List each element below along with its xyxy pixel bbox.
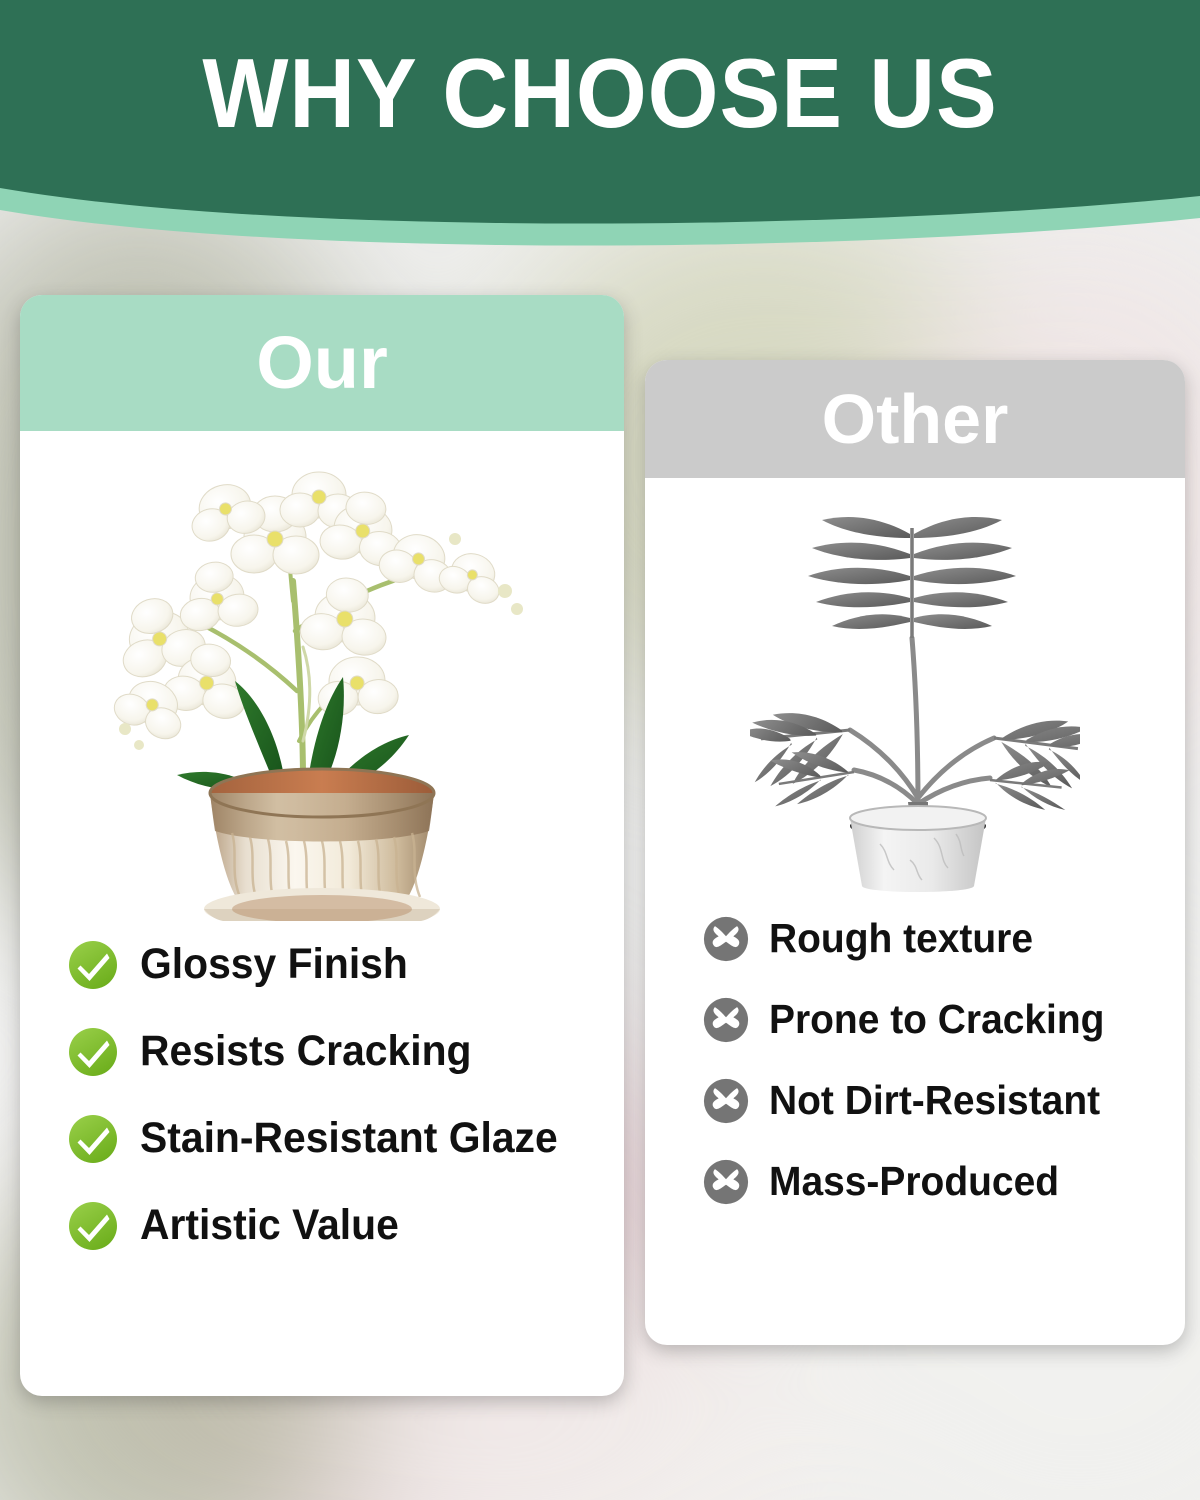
- palm-in-plain-pot-illustration: [750, 488, 1080, 898]
- feature-item: Glossy Finish: [68, 921, 624, 1008]
- feature-label: Resists Cracking: [140, 1030, 471, 1073]
- feature-list-our: Glossy Finish Resists Cracking Stain-Res…: [20, 921, 624, 1269]
- check-circle-icon: [68, 1027, 118, 1077]
- feature-list-other: Rough texture Prone to Cracking Not Dirt…: [645, 898, 1185, 1222]
- product-image-our: [20, 431, 624, 921]
- card-header-our: Our: [20, 295, 624, 431]
- feature-label: Rough texture: [769, 918, 1033, 959]
- card-header-label-other: Other: [822, 384, 1009, 454]
- check-circle-icon: [68, 1201, 118, 1251]
- check-circle-icon: [68, 1114, 118, 1164]
- x-circle-icon: [703, 916, 749, 962]
- feature-label: Prone to Cracking: [769, 999, 1104, 1040]
- comparison-card-other: Other: [645, 360, 1185, 1345]
- card-body-our: Glossy Finish Resists Cracking Stain-Res…: [20, 431, 624, 1269]
- card-header-label-our: Our: [256, 326, 388, 400]
- infographic-page: WHY CHOOSE US Our: [0, 0, 1200, 1500]
- feature-item: Resists Cracking: [68, 1008, 624, 1095]
- feature-item: Mass-Produced: [703, 1141, 1185, 1222]
- comparison-card-our: Our: [20, 295, 624, 1396]
- feature-label: Mass-Produced: [769, 1161, 1059, 1202]
- feature-item: Not Dirt-Resistant: [703, 1060, 1185, 1141]
- product-image-other: [645, 478, 1185, 898]
- orchid-in-ceramic-pot-illustration: [107, 441, 537, 921]
- feature-item: Artistic Value: [68, 1182, 624, 1269]
- feature-item: Rough texture: [703, 898, 1185, 979]
- card-body-other: Rough texture Prone to Cracking Not Dirt…: [645, 478, 1185, 1222]
- header-banner: WHY CHOOSE US: [0, 0, 1200, 250]
- feature-label: Not Dirt-Resistant: [769, 1080, 1100, 1121]
- feature-label: Artistic Value: [140, 1204, 399, 1247]
- x-circle-icon: [703, 1159, 749, 1205]
- x-circle-icon: [703, 997, 749, 1043]
- feature-item: Prone to Cracking: [703, 979, 1185, 1060]
- x-circle-icon: [703, 1078, 749, 1124]
- card-header-other: Other: [645, 360, 1185, 478]
- feature-label: Glossy Finish: [140, 943, 408, 986]
- page-title: WHY CHOOSE US: [42, 44, 1158, 142]
- feature-item: Stain-Resistant Glaze: [68, 1095, 624, 1182]
- feature-label: Stain-Resistant Glaze: [140, 1117, 558, 1160]
- check-circle-icon: [68, 940, 118, 990]
